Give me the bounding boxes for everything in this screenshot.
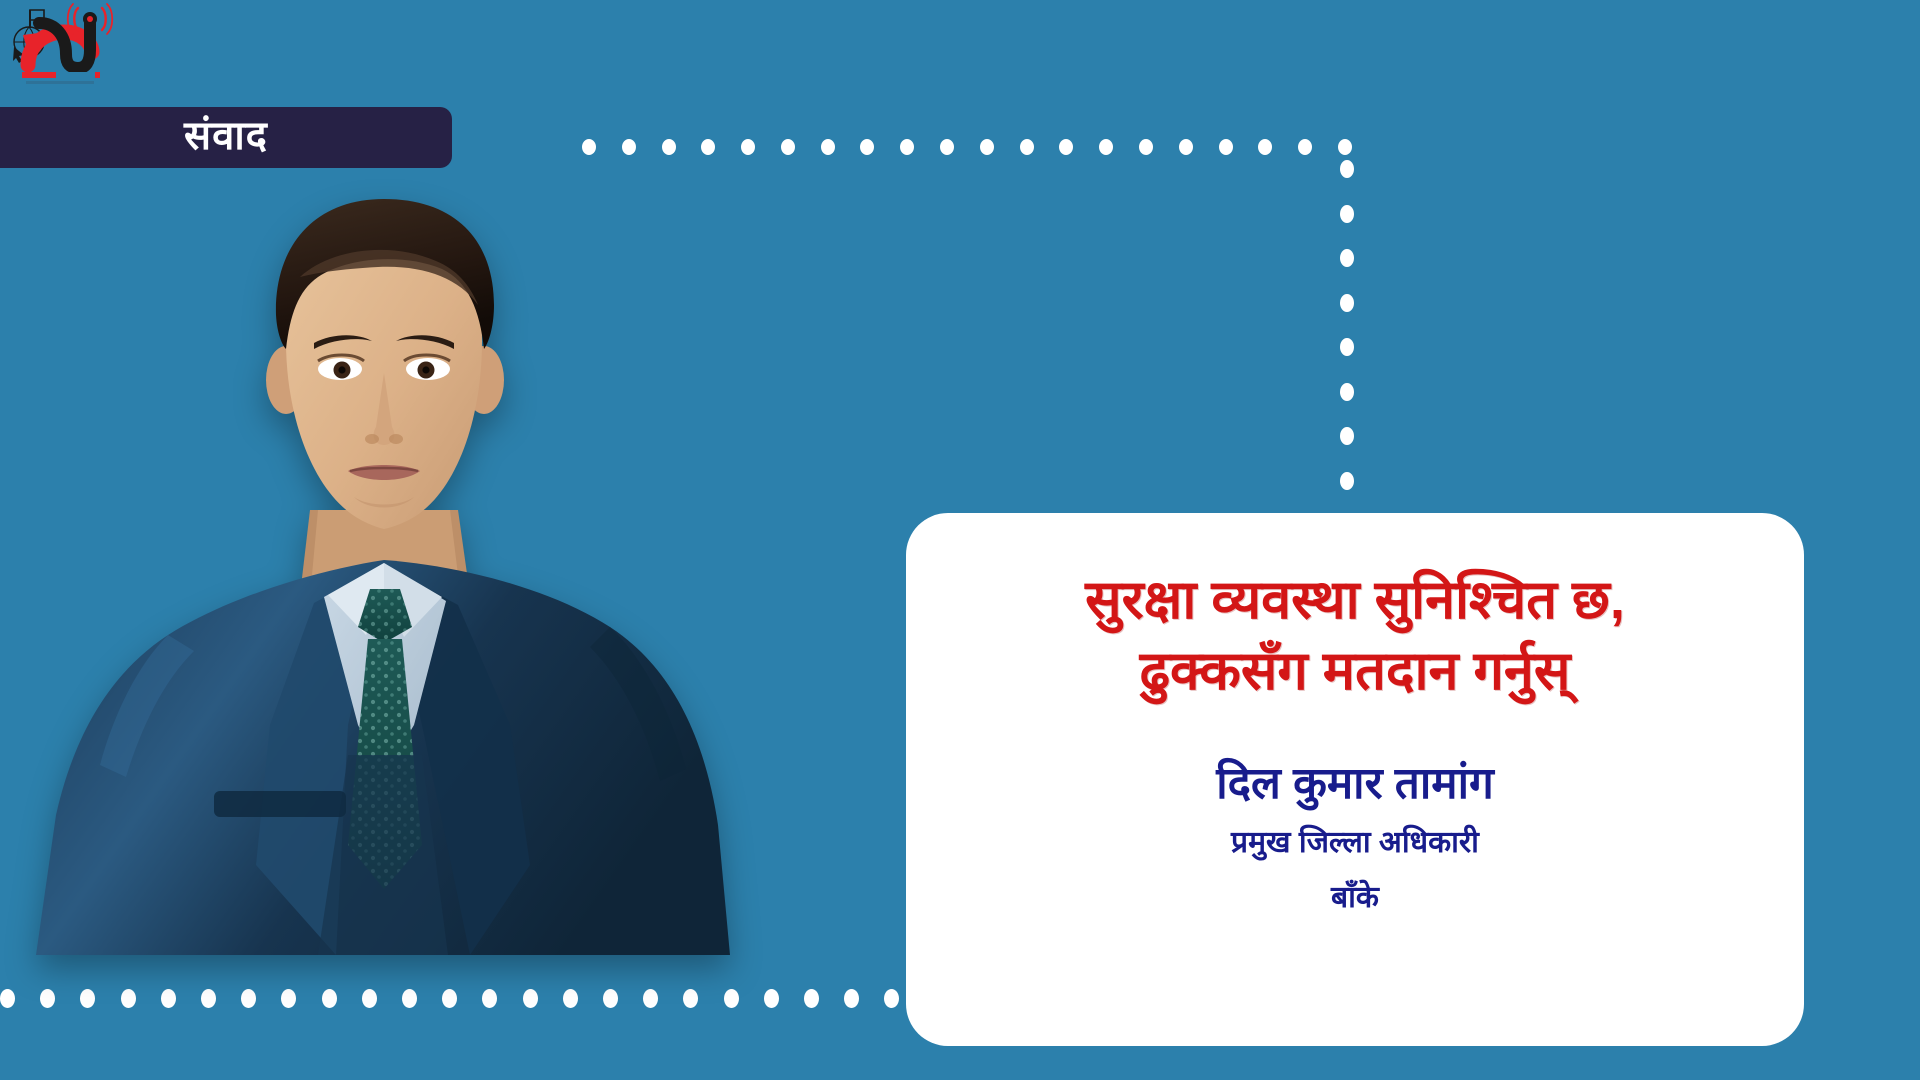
dot — [362, 989, 377, 1008]
dot — [1099, 139, 1113, 155]
dot — [582, 139, 596, 155]
dot — [764, 989, 779, 1008]
dot — [1340, 294, 1354, 312]
section-tab-label: संवाद — [184, 116, 268, 160]
quote-card: सुरक्षा व्यवस्था सुनिश्चित छ, ढुक्कसँग म… — [906, 513, 1804, 1046]
dot — [683, 989, 698, 1008]
dot — [121, 989, 136, 1008]
dot — [1179, 139, 1193, 155]
dot — [622, 139, 636, 155]
dot — [741, 139, 755, 155]
dot — [1258, 139, 1272, 155]
dot — [940, 139, 954, 155]
dot — [781, 139, 795, 155]
dot — [161, 989, 176, 1008]
logo-wordmark-right — [58, 72, 94, 78]
headline-line-2: ढुक्कसँग मतदान गर्नुस् — [1085, 636, 1625, 707]
dot — [523, 989, 538, 1008]
dot — [1340, 472, 1354, 490]
dot — [1340, 160, 1354, 178]
speaker-place: बाँके — [1331, 875, 1379, 920]
dot — [884, 989, 899, 1008]
dot — [1298, 139, 1312, 155]
headline: सुरक्षा व्यवस्था सुनिश्चित छ, ढुक्कसँग म… — [1085, 565, 1625, 708]
dotted-line-top — [582, 140, 1352, 154]
logo-wordmark-left — [22, 72, 56, 78]
speaker-role: प्रमुख जिल्ला अधिकारी — [1231, 820, 1479, 865]
dot — [40, 989, 55, 1008]
dn-logo[interactable] — [8, 2, 116, 88]
dot — [603, 989, 618, 1008]
dot — [1020, 139, 1034, 155]
dot — [900, 139, 914, 155]
dot — [643, 989, 658, 1008]
dot — [442, 989, 457, 1008]
dot — [1340, 249, 1354, 267]
dot — [241, 989, 256, 1008]
headline-line-1: सुरक्षा व्यवस्था सुनिश्चित छ, — [1085, 565, 1625, 636]
dot — [662, 139, 676, 155]
dot — [1219, 139, 1233, 155]
dot — [724, 989, 739, 1008]
dot — [563, 989, 578, 1008]
dot — [402, 989, 417, 1008]
poster-canvas: संवाद — [0, 0, 1920, 1080]
dotted-line-vertical — [1339, 160, 1355, 490]
dot — [980, 139, 994, 155]
dot — [860, 139, 874, 155]
dot — [1139, 139, 1153, 155]
logo-wordmark-dot — [95, 72, 100, 78]
dot — [701, 139, 715, 155]
dot — [0, 989, 15, 1008]
dot — [1340, 383, 1354, 401]
dot — [844, 989, 859, 1008]
dot — [322, 989, 337, 1008]
dot — [821, 139, 835, 155]
logo-tagline — [26, 81, 94, 84]
dot — [482, 989, 497, 1008]
speaker-name: दिल कुमार तामांग — [1216, 760, 1494, 808]
dot — [1340, 427, 1354, 445]
dot — [201, 989, 216, 1008]
dotted-line-bottom — [0, 990, 940, 1006]
speaker-portrait — [18, 165, 748, 955]
dot — [1338, 139, 1352, 155]
suit-pocket — [214, 791, 346, 817]
section-tab[interactable]: संवाद — [0, 107, 452, 168]
dot — [281, 989, 296, 1008]
dot — [80, 989, 95, 1008]
dot — [1059, 139, 1073, 155]
dot — [1340, 205, 1354, 223]
dot — [804, 989, 819, 1008]
dot — [1340, 338, 1354, 356]
